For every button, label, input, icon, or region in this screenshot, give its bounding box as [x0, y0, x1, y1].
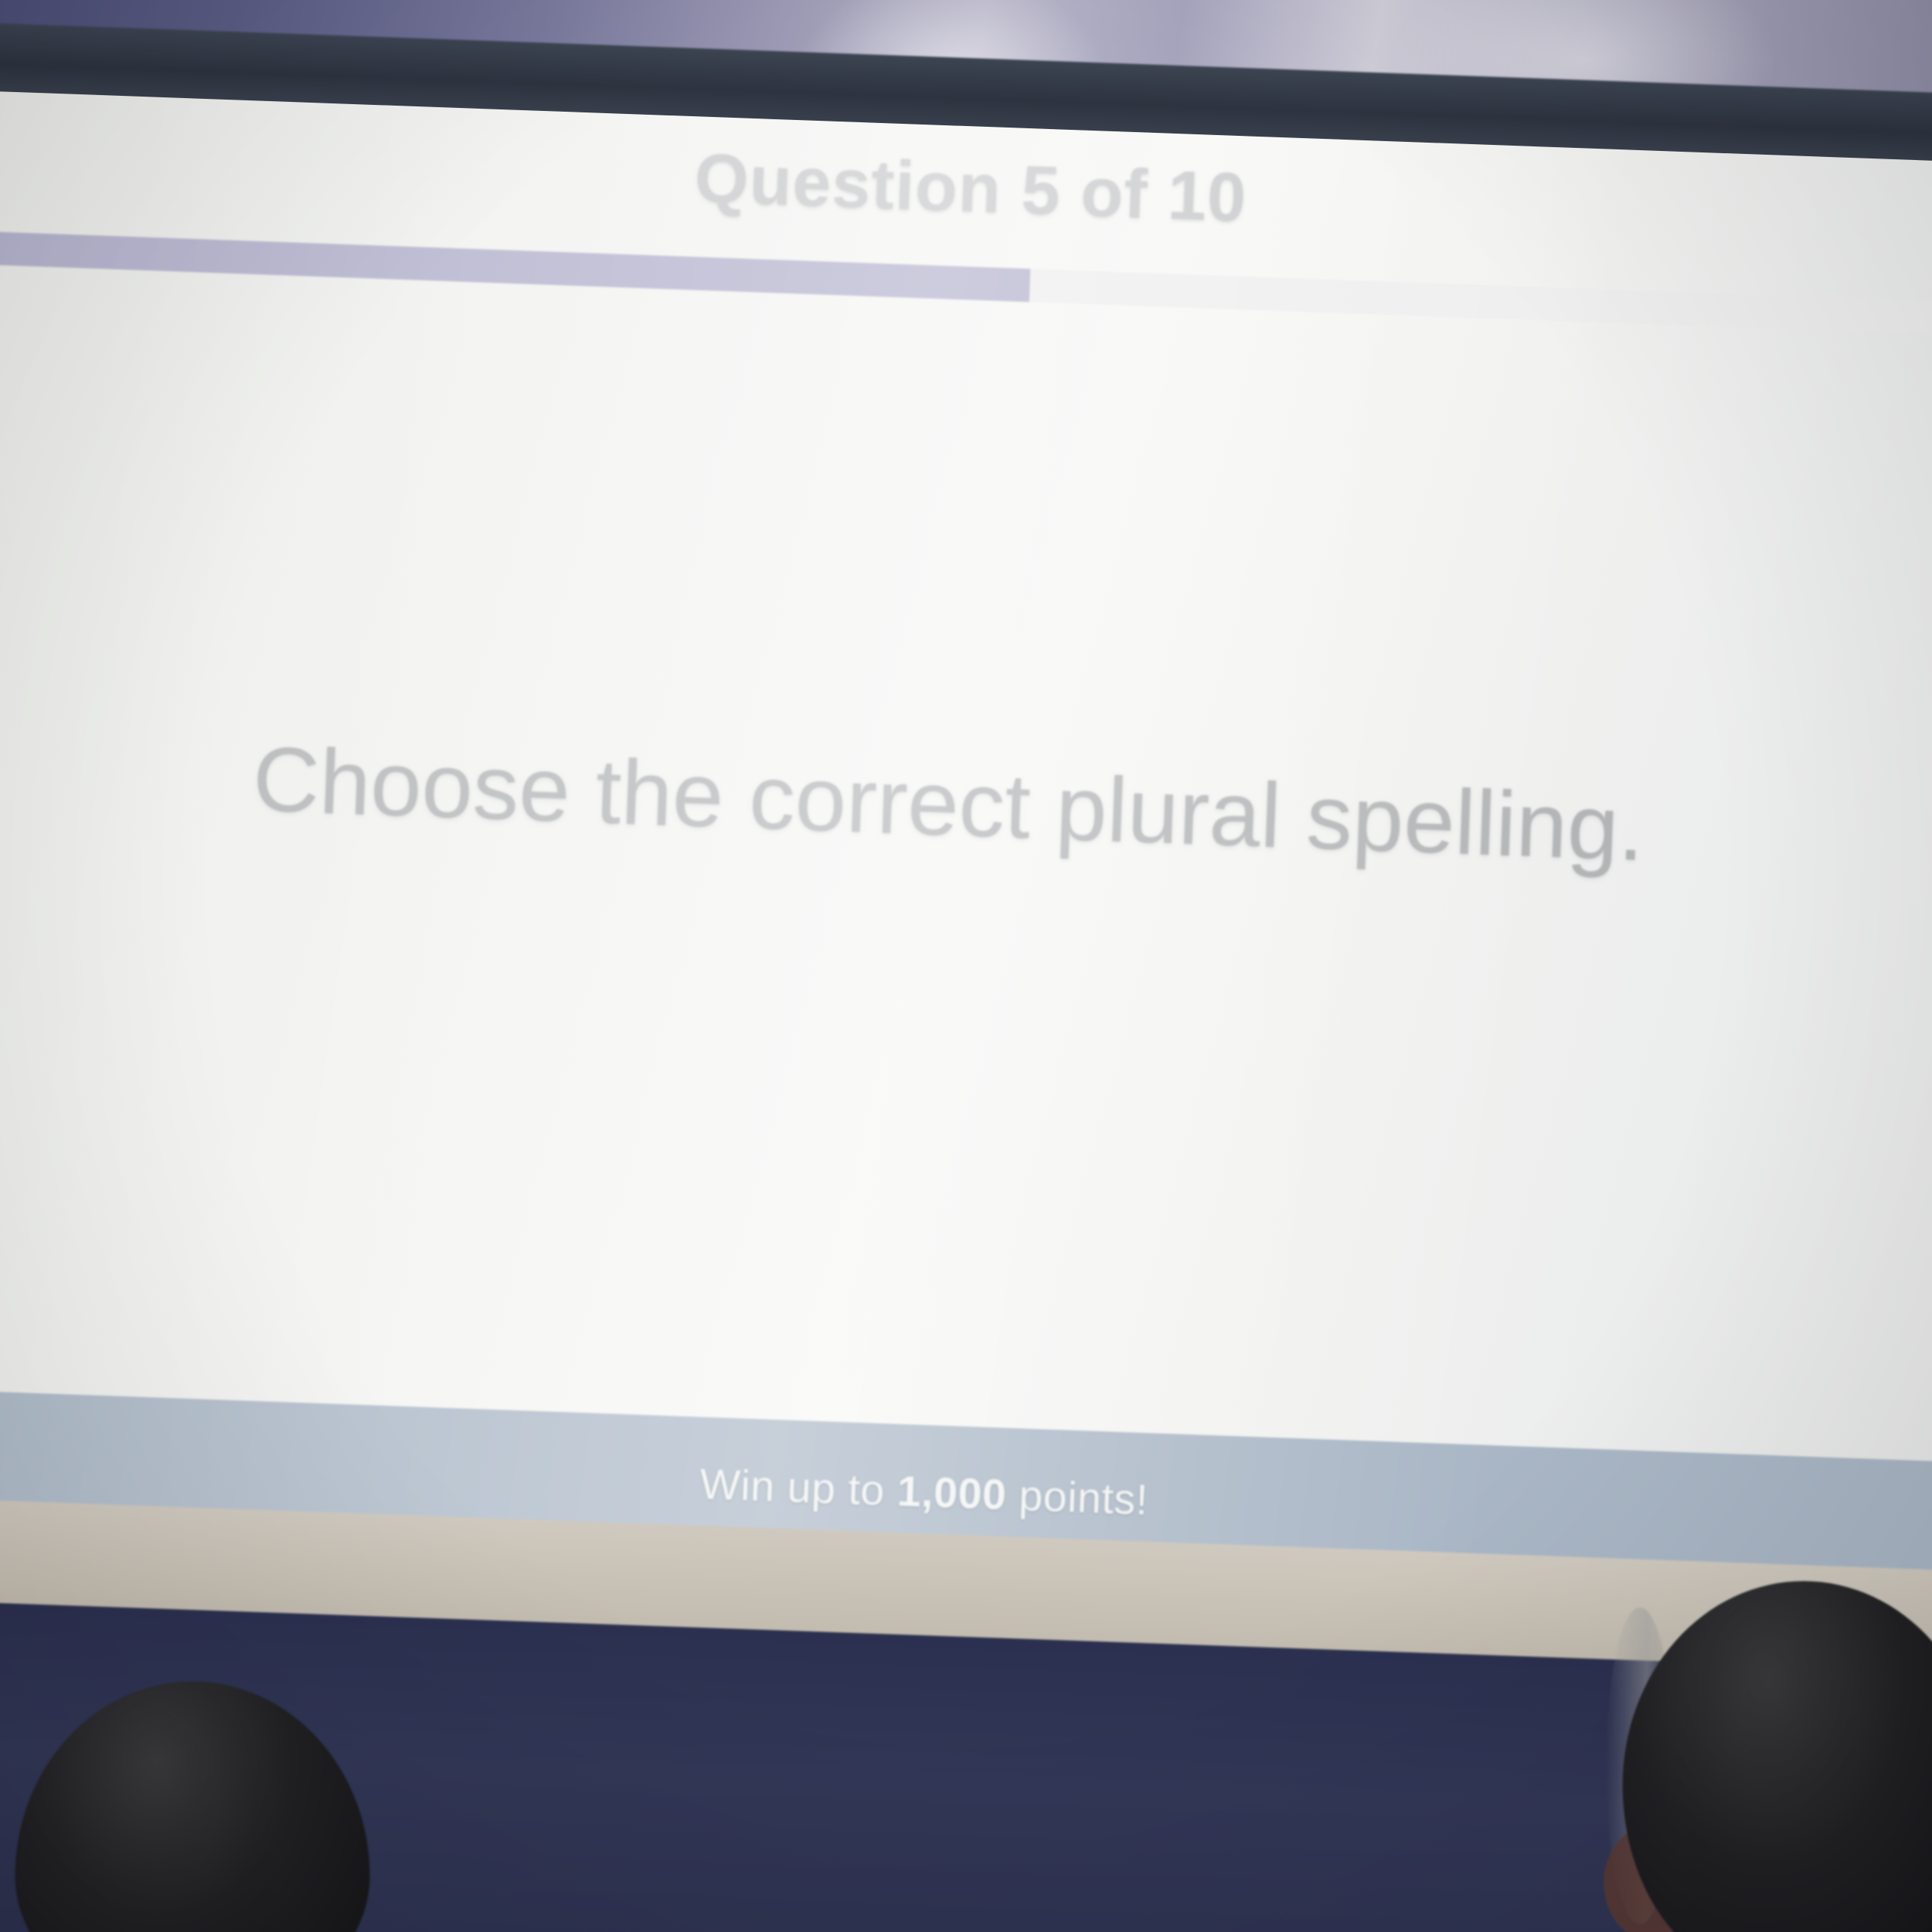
photographed-quiz-slide: Question 5 of 10 Choose the correct plur… [0, 0, 1932, 1932]
points-amount: 1,000 [897, 1467, 1008, 1519]
question-prompt: Choose the correct plural spelling. [0, 715, 1932, 892]
quiz-slide: Question 5 of 10 Choose the correct plur… [0, 89, 1932, 1717]
points-suffix: points! [1006, 1471, 1149, 1524]
points-prefix: Win up to [699, 1460, 898, 1515]
points-banner-text: Win up to 1,000 points! [699, 1460, 1149, 1525]
quiz-progress-fill [0, 229, 1030, 302]
